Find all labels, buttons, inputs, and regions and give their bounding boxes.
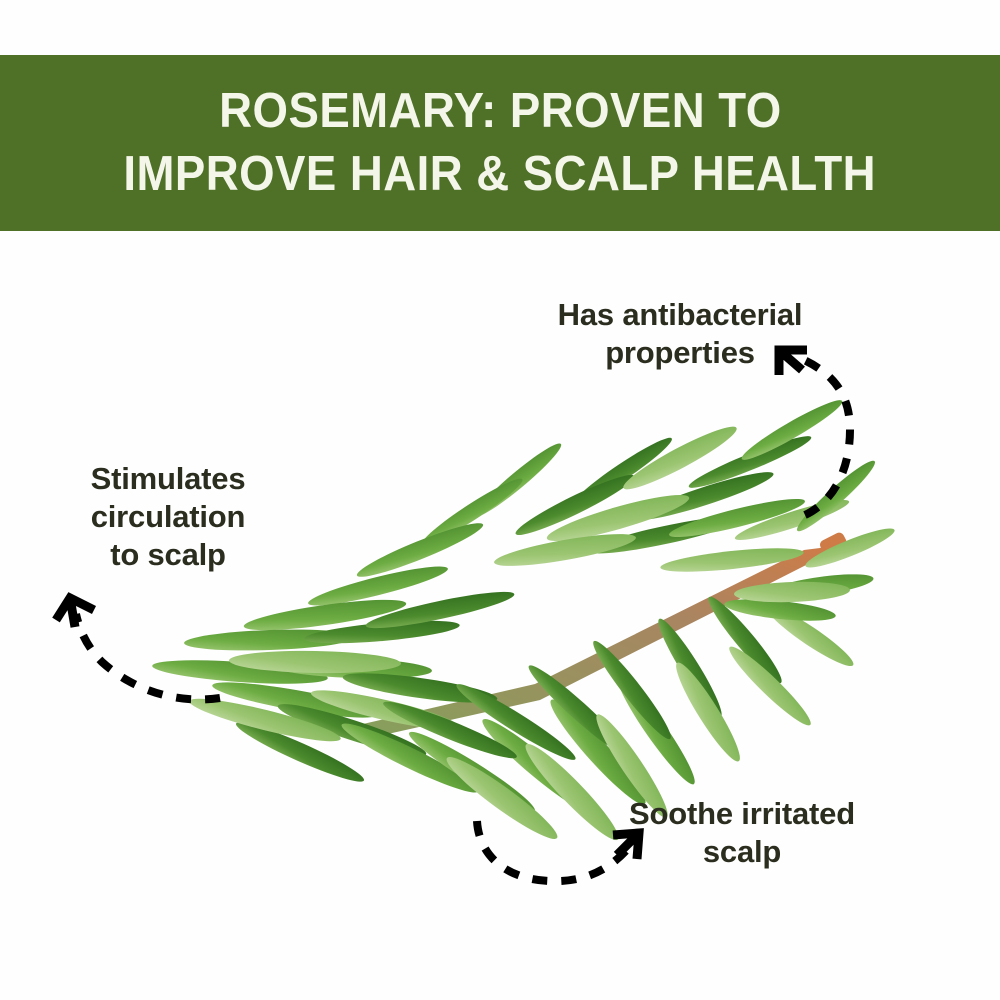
callout-circulation-line-3: to scalp: [38, 536, 298, 574]
callout-circulation: Stimulates circulation to scalp: [38, 460, 298, 573]
header-banner: ROSEMARY: PROVEN TO IMPROVE HAIR & SCALP…: [0, 55, 1000, 231]
callout-antibacterial-line-1: Has antibacterial: [480, 296, 880, 334]
arrow-circulation-icon: [50, 580, 225, 710]
arrow-soothe-icon: [465, 805, 665, 905]
callout-circulation-line-1: Stimulates: [38, 460, 298, 498]
banner-title-line-2: IMPROVE HAIR & SCALP HEALTH: [124, 143, 877, 206]
infographic-page: ROSEMARY: PROVEN TO IMPROVE HAIR & SCALP…: [0, 0, 1000, 1000]
banner-title-line-1: ROSEMARY: PROVEN TO: [219, 80, 781, 143]
arrow-antibacterial-icon: [755, 330, 885, 520]
callout-circulation-line-2: circulation: [38, 498, 298, 536]
